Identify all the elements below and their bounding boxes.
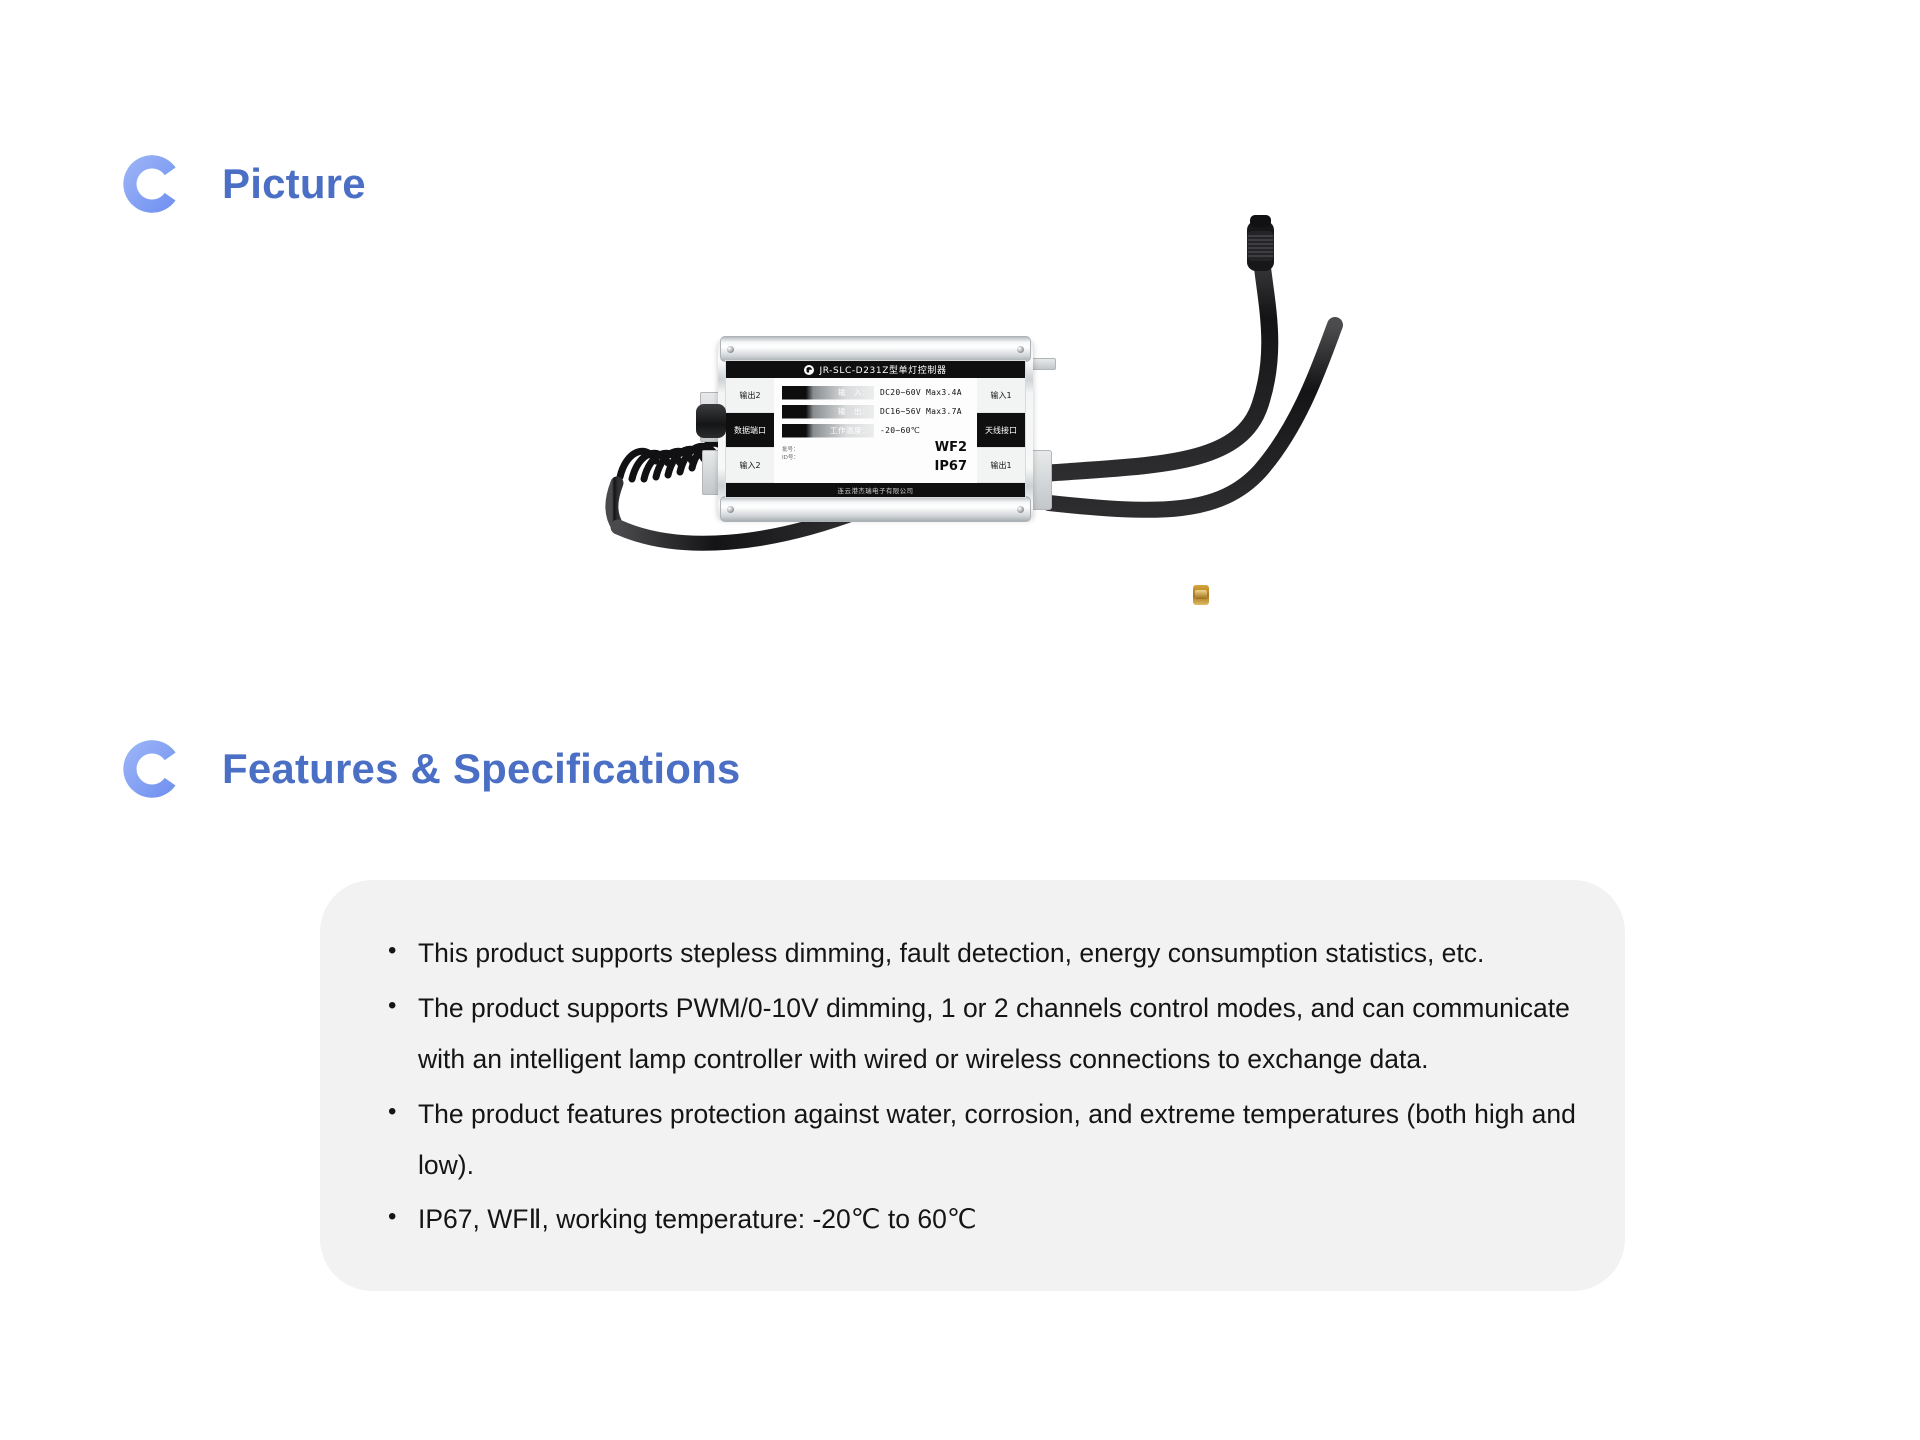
c-ring-icon <box>118 150 186 218</box>
badge-ip67: IP67 <box>935 458 967 477</box>
label-header: JR-SLC-D231Z型单灯控制器 <box>726 361 1025 378</box>
list-item: This product supports stepless dimming, … <box>360 928 1585 979</box>
port-label-input1: 输入1 <box>977 378 1025 413</box>
label-header-text: JR-SLC-D231Z型单灯控制器 <box>819 363 946 376</box>
label-badges: WF2 IP67 <box>935 439 967 477</box>
spec-row-input: 输 入： DC20~60V Max3.4A <box>782 385 969 400</box>
label-body: 输出2 数据端口 输入2 输 入： DC20~60V Max3.4A 输 出： … <box>726 378 1025 483</box>
screw-icon <box>1017 346 1024 353</box>
list-item: IP67, WFⅡ, working temperature: -20℃ to … <box>360 1194 1585 1245</box>
spec-key-output: 输 出： <box>782 405 874 419</box>
section-title-picture: Picture <box>222 163 366 205</box>
spec-key-temperature: 工作温度： <box>782 424 874 438</box>
screw-icon <box>727 346 734 353</box>
device-label-plate: JR-SLC-D231Z型单灯控制器 输出2 数据端口 输入2 输 入： DC2… <box>725 360 1026 498</box>
controller-device: JR-SLC-D231Z型单灯控制器 输出2 数据端口 输入2 输 入： DC2… <box>718 340 1033 518</box>
features-card: This product supports stepless dimming, … <box>320 880 1625 1291</box>
spec-row-temperature: 工作温度： -20~60℃ <box>782 423 969 438</box>
device-rail-bottom <box>720 496 1031 522</box>
list-item: The product features protection against … <box>360 1089 1585 1191</box>
label-left-column: 输出2 数据端口 输入2 <box>726 378 774 483</box>
label-right-column: 输入1 天线接口 输出1 <box>977 378 1025 483</box>
section-header-features: Features & Specifications <box>118 735 741 803</box>
port-label-input2: 输入2 <box>726 448 774 483</box>
section-title-features: Features & Specifications <box>222 748 741 790</box>
spec-value-input: DC20~60V Max3.4A <box>874 388 962 397</box>
port-label-output2: 输出2 <box>726 378 774 413</box>
section-header-picture: Picture <box>118 150 366 218</box>
features-bullet-list: This product supports stepless dimming, … <box>360 928 1585 1245</box>
device-rail-top <box>720 336 1031 362</box>
spec-value-temperature: -20~60℃ <box>874 426 920 435</box>
list-item: The product supports PWM/0-10V dimming, … <box>360 983 1585 1085</box>
screw-icon <box>1017 506 1024 513</box>
port-label-output1: 输出1 <box>977 448 1025 483</box>
spec-value-output: DC16~56V Max3.7A <box>874 407 962 416</box>
antenna-sma-connector <box>1193 585 1209 605</box>
jr-logo-icon <box>804 365 814 375</box>
screw-icon <box>727 506 734 513</box>
port-label-antenna-port: 天线接口 <box>977 413 1025 448</box>
badge-wf2: WF2 <box>935 439 967 458</box>
spec-key-input: 输 入： <box>782 386 874 400</box>
label-footer: 连云港杰瑞电子有限公司 <box>726 483 1025 497</box>
product-photo: JR-SLC-D231Z型单灯控制器 输出2 数据端口 输入2 输 入： DC2… <box>560 215 1360 635</box>
c-ring-icon <box>118 735 186 803</box>
spec-row-output: 输 出： DC16~56V Max3.7A <box>782 404 969 419</box>
label-spec-column: 输 入： DC20~60V Max3.4A 输 出： DC16~56V Max3… <box>774 378 977 483</box>
cable-gland <box>696 404 726 438</box>
port-label-data-port: 数据端口 <box>726 413 774 448</box>
